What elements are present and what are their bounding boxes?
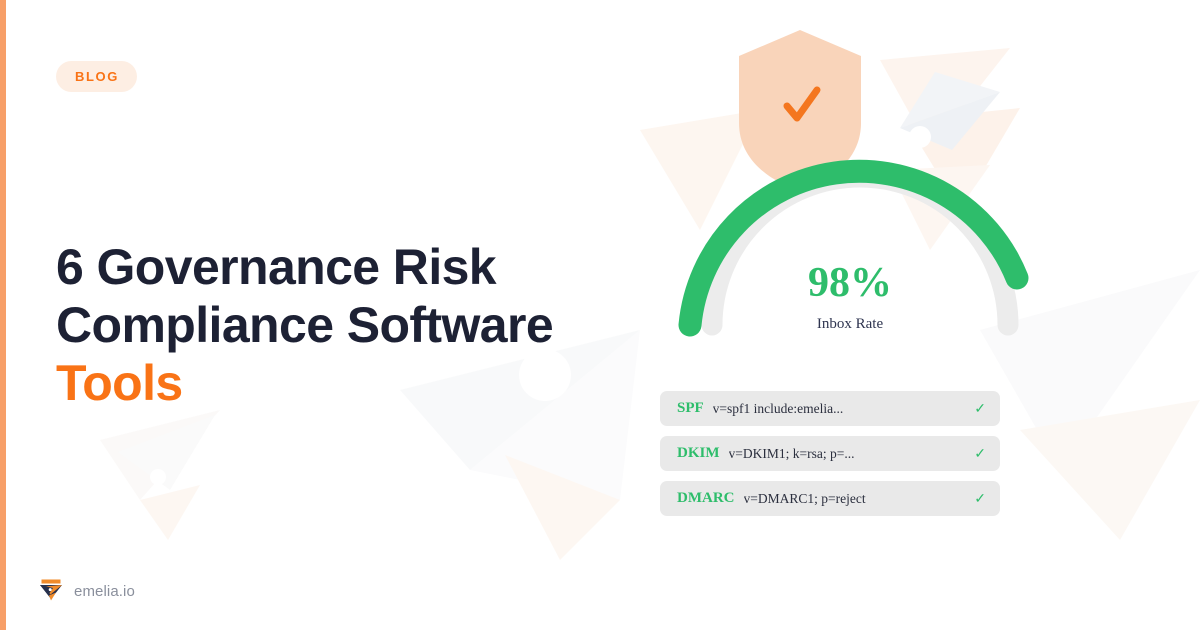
watermark-plane-left xyxy=(100,410,220,540)
page-title: 6 Governance Risk Compliance Software To… xyxy=(56,238,656,412)
check-mark-icon: ✓ xyxy=(974,400,986,417)
gauge-label-text: Inbox Rate xyxy=(660,316,1040,333)
record-value-spf: v=spf1 include:emelia... xyxy=(713,401,967,417)
gauge-value-text: 98% xyxy=(660,262,1040,304)
table-row[interactable]: SPF v=spf1 include:emelia... ✓ xyxy=(660,391,1000,426)
check-mark-icon: ✓ xyxy=(974,490,986,507)
brand-name: emelia.io xyxy=(74,583,135,600)
table-row[interactable]: DKIM v=DKIM1; k=rsa; p=... ✓ xyxy=(660,436,1000,471)
headline-line-2: Compliance Software xyxy=(56,297,553,353)
record-key-dmarc: DMARC xyxy=(677,490,735,507)
auth-records-list: SPF v=spf1 include:emelia... ✓ DKIM v=DK… xyxy=(660,391,1000,526)
record-value-dkim: v=DKIM1; k=rsa; p=... xyxy=(729,446,967,462)
headline-line-1: 6 Governance Risk xyxy=(56,239,496,295)
social-card-canvas: BLOG 6 Governance Risk Compliance Softwa… xyxy=(0,0,1200,630)
check-mark-icon: ✓ xyxy=(974,445,986,462)
paper-plane-logo-icon xyxy=(38,578,64,604)
record-key-spf: SPF xyxy=(677,400,704,417)
record-value-dmarc: v=DMARC1; p=reject xyxy=(744,491,967,507)
left-accent-bar xyxy=(0,0,6,630)
deliverability-illustration: 98% Inbox Rate SPF v=spf1 include:emelia… xyxy=(640,0,1200,630)
record-key-dkim: DKIM xyxy=(677,445,720,462)
headline-line-3-accent: Tools xyxy=(56,354,656,412)
inbox-rate-gauge: 98% Inbox Rate xyxy=(660,110,1040,350)
category-badge-blog: BLOG xyxy=(56,61,137,92)
brand-footer[interactable]: emelia.io xyxy=(38,578,135,604)
table-row[interactable]: DMARC v=DMARC1; p=reject ✓ xyxy=(660,481,1000,516)
